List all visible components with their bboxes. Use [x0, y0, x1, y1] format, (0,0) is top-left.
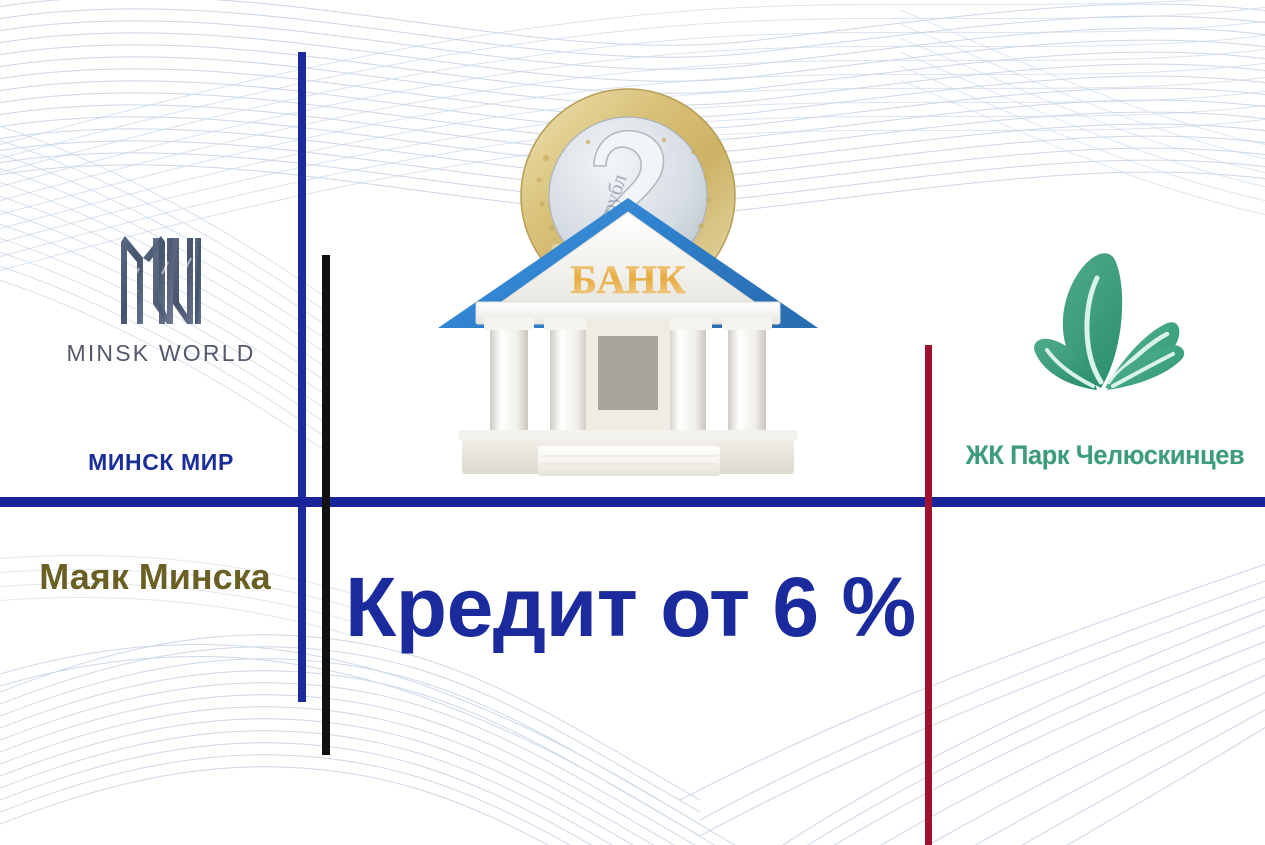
brand-minsk-world: MINSK WORLD	[46, 228, 276, 367]
horizontal-blue-rule	[0, 497, 1265, 507]
minsk-mir-label: МИНСК МИР	[46, 449, 276, 476]
mw-monogram-icon	[109, 228, 213, 332]
vertical-black-rule	[322, 255, 330, 755]
green-leaves-icon	[1005, 248, 1205, 413]
bank-building-with-coin-illustration: рубл БАНК	[418, 48, 838, 478]
mayak-minska-label: Маяк Минска	[30, 556, 280, 598]
vertical-red-rule	[925, 345, 932, 845]
park-chelyuskintsev-label: ЖК Парк Челюскинцев	[956, 440, 1255, 471]
vertical-navy-rule	[298, 52, 306, 702]
headline-credit-rate: Кредит от 6 %	[345, 565, 925, 649]
credit-promo-banner: рубл БАНК	[0, 0, 1265, 845]
brand-park-chelyuskintsev	[950, 248, 1260, 413]
minsk-world-wordmark: MINSK WORLD	[46, 340, 276, 367]
front-steps	[538, 446, 720, 476]
bank-building-label: БАНК	[571, 257, 686, 302]
